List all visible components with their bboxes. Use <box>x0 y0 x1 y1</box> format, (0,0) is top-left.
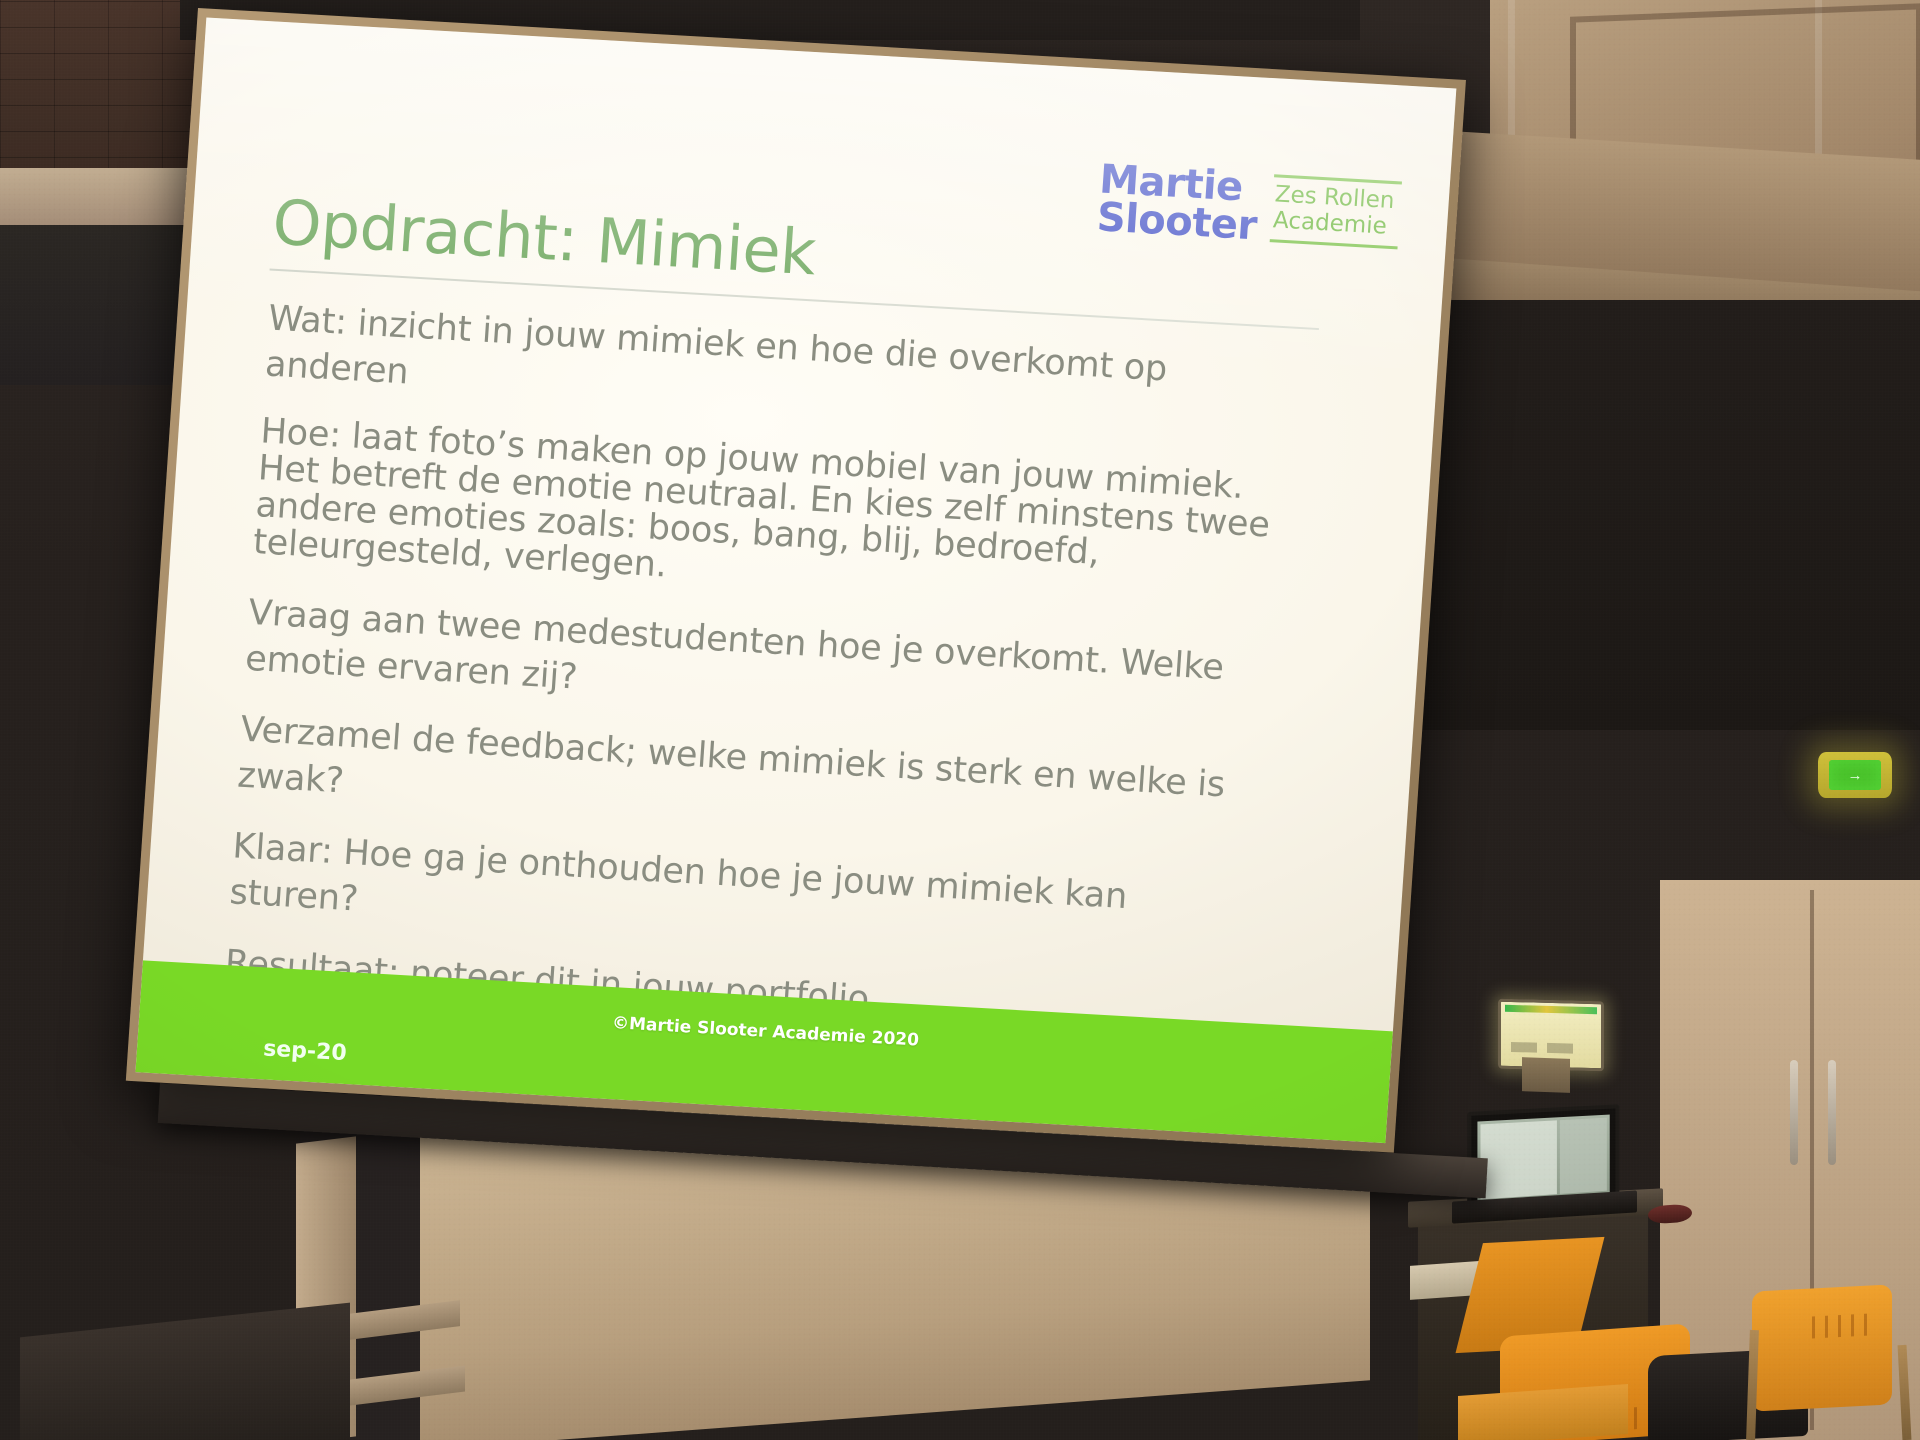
brand-logo: Martie Slooter Zes Rollen Academie <box>1096 160 1403 254</box>
slide-paragraph-hoe: Hoe: laat foto’s maken op jouw mobiel va… <box>252 413 1290 619</box>
brand-subtitle-line2: Academie <box>1272 208 1400 241</box>
slide-copyright: ©Martie Slooter Academie 2020 <box>611 1013 919 1050</box>
projection-screen: Martie Slooter Zes Rollen Academie Opdra… <box>126 8 1466 1153</box>
slide-date: sep-20 <box>262 1036 347 1066</box>
brand-subtitle-text: Zes Rollen Academie <box>1270 177 1402 246</box>
brand-name: Martie Slooter <box>1096 160 1261 246</box>
brand-subtitle: Zes Rollen Academie <box>1270 170 1403 249</box>
screen-surface: Martie Slooter Zes Rollen Academie Opdra… <box>135 17 1456 1143</box>
slide-content: Martie Slooter Zes Rollen Academie Opdra… <box>135 17 1456 1143</box>
brand-name-line2: Slooter <box>1096 199 1258 246</box>
screen-frame: Martie Slooter Zes Rollen Academie Opdra… <box>126 8 1466 1153</box>
slide-body: Wat: inzicht in jouw mimiek en hoe die o… <box>223 297 1378 1050</box>
